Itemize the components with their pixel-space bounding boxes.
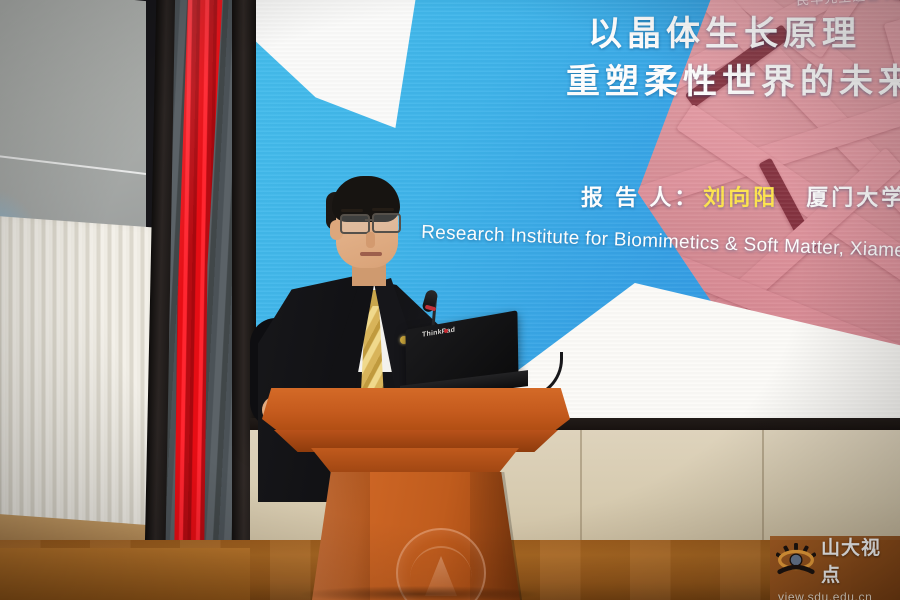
photo-canvas: 民华先生逝世十周 以晶体生长原理 重塑柔性世界的未来 报 告 人：刘向阳厦门大学… <box>0 0 900 600</box>
podium-shadow <box>300 586 540 600</box>
glasses-lens-left <box>340 214 370 234</box>
stage-floor-left <box>0 548 250 600</box>
watermark-url: view.sdu.edu.cn <box>778 590 900 600</box>
speaker-mouth <box>360 252 382 256</box>
speaker-eyebrow-left <box>341 209 363 212</box>
corrugated-wall-panel <box>0 216 164 558</box>
watermark-badge: 山大视点 view.sdu.edu.cn <box>770 536 900 600</box>
podium-neck <box>302 448 528 476</box>
glasses-bridge <box>365 219 373 221</box>
speaker-nose <box>366 232 375 248</box>
eye-sunburst-icon <box>776 543 816 577</box>
glasses-lens-right <box>372 213 401 233</box>
speaker-eyebrow-right <box>372 208 394 211</box>
watermark-title: 山大视点 <box>821 533 900 587</box>
